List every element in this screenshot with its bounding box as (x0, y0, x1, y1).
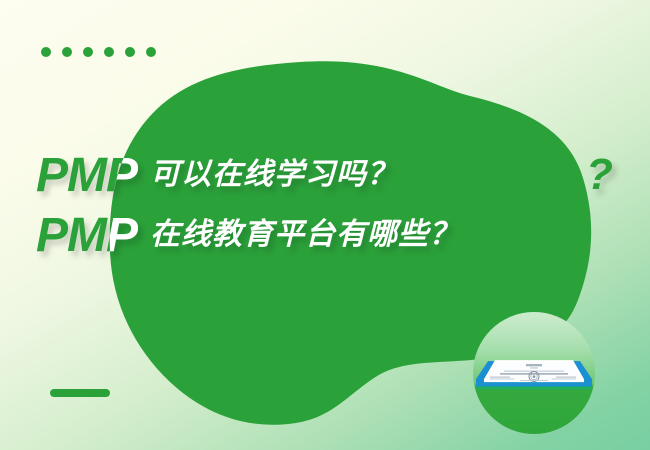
banner-canvas: PMP可以在线学习吗？ PMP在线教育平台有哪些？ ? PMP可以在线学习吗？ … (0, 0, 650, 450)
decorative-dash (50, 389, 110, 397)
pmp-certificate-icon (474, 349, 594, 395)
certificate-badge (473, 312, 595, 434)
